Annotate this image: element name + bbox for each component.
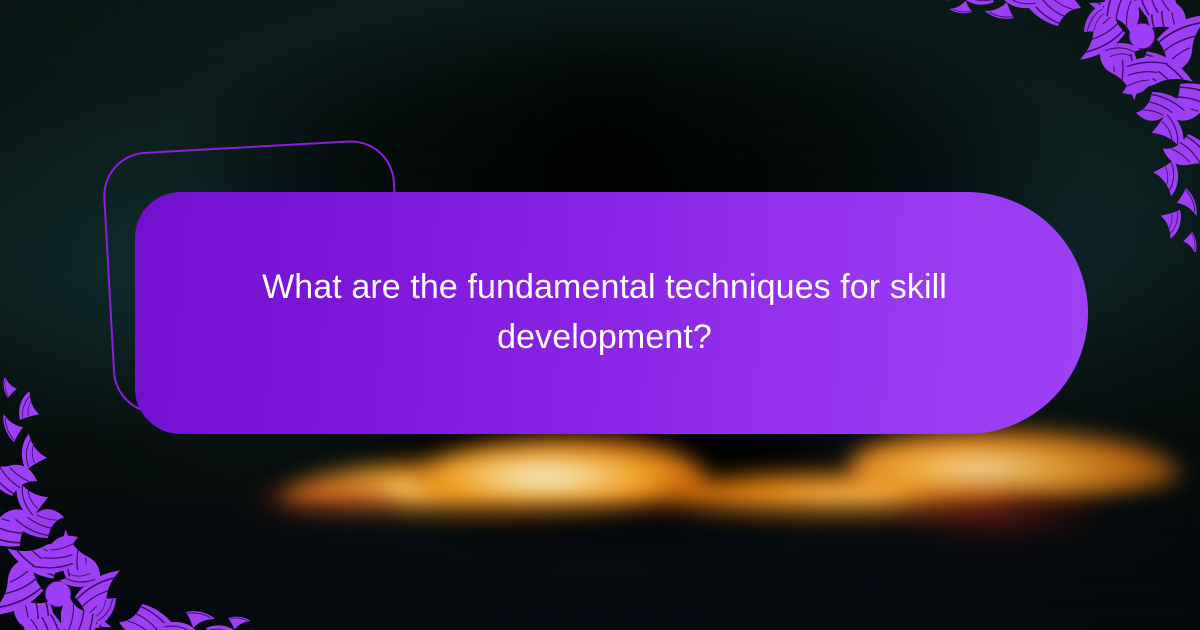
question-title: What are the fundamental techniques for … (217, 263, 992, 362)
poster-canvas: What are the fundamental techniques for … (0, 0, 1200, 630)
question-card[interactable]: What are the fundamental techniques for … (135, 192, 1088, 434)
